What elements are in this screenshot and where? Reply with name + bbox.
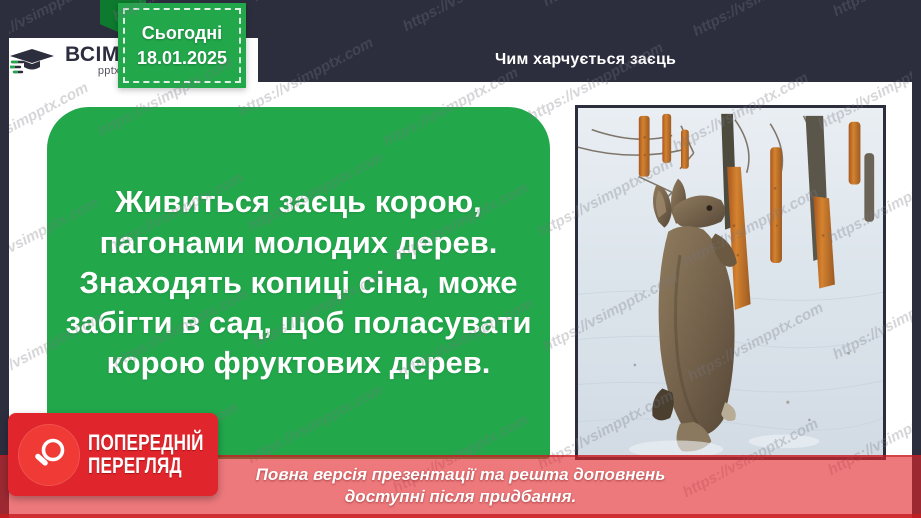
- promo-text-block: Повна версія презентації та решта доповн…: [256, 464, 666, 508]
- right-edge-strip: [912, 0, 921, 518]
- magnifier-icon: [18, 424, 80, 486]
- page-title: Чим харчується заєць: [495, 51, 676, 69]
- slide-title-bar: Чим харчується заєць: [258, 38, 913, 82]
- brand-name: ВСІМ: [65, 44, 120, 65]
- date-tab-label: Сьогодні: [142, 23, 222, 44]
- preview-badge-line-2: ПЕРЕГЛЯД: [88, 455, 204, 477]
- hare-photo: [578, 108, 883, 456]
- preview-badge[interactable]: ПОПЕРЕДНІЙ ПЕРЕГЛЯД: [8, 413, 218, 496]
- promo-line-2: доступні після придбання.: [256, 486, 666, 508]
- content-text: Живиться заєць корою, пагонами молодих д…: [65, 182, 532, 383]
- brand-logo: ВСІМ pptx: [10, 44, 120, 77]
- graduation-cap-icon: [10, 45, 60, 75]
- date-tab: Сьогодні 18.01.2025: [118, 3, 246, 88]
- hare-photo-frame: [575, 105, 886, 460]
- promo-line-1: Повна версія презентації та решта доповн…: [256, 464, 666, 486]
- content-card: Живиться заєць корою, пагонами молодих д…: [47, 107, 550, 459]
- slide-canvas: ВСІМ pptx Сьогодні 18.01.2025 Чим харчує…: [0, 0, 921, 518]
- preview-badge-labels: ПОПЕРЕДНІЙ ПЕРЕГЛЯД: [88, 432, 236, 478]
- brand-logo-text: ВСІМ pptx: [65, 44, 120, 77]
- preview-badge-line-1: ПОПЕРЕДНІЙ: [88, 432, 204, 454]
- brand-suffix: pptx: [65, 66, 120, 77]
- date-tab-value: 18.01.2025: [137, 48, 227, 69]
